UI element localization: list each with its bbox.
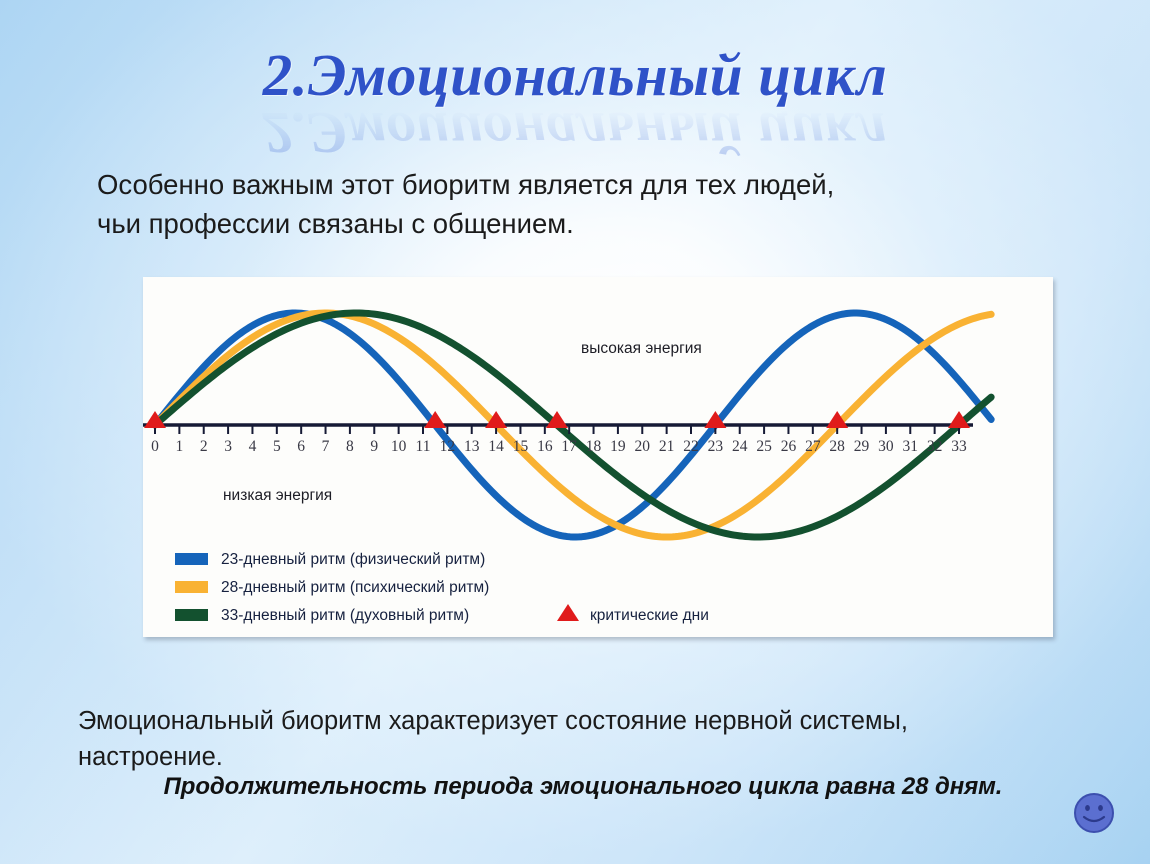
x-tick-label: 18 [586,438,602,455]
page-title: 2.Эмоциональный цикл [0,46,1150,105]
intro-paragraph: Особенно важным этот биоритм является дл… [97,165,1062,243]
x-tick-label: 14 [488,438,504,455]
outro-line-2: настроение. [78,739,1078,775]
x-tick-label: 22 [683,438,699,455]
high-energy-label: высокая энергия [581,340,702,357]
x-tick-label: 31 [903,438,919,455]
smiley-face-icon [1072,791,1116,835]
x-tick-label: 29 [854,438,870,455]
slide-root: 2.Эмоциональный цикл 2.Эмоциональный цик… [0,0,1150,864]
x-tick-label: 8 [346,438,354,455]
outro-paragraph: Эмоциональный биоритм характеризует сост… [78,703,1078,775]
intro-line-1: Особенно важным этот биоритм является дл… [97,165,1062,204]
x-tick-label: 32 [927,438,943,455]
slide-title-block: 2.Эмоциональный цикл 2.Эмоциональный цик… [0,46,1150,162]
legend-swatch [175,581,208,593]
x-tick-label: 6 [297,438,305,455]
page-title-reflection: 2.Эмоциональный цикл [0,106,1150,162]
x-tick-label: 16 [537,438,553,455]
x-tick-label: 9 [370,438,378,455]
x-tick-label: 11 [416,438,431,455]
legend-label: 28-дневный ритм (психический ритм) [221,579,489,596]
x-tick-label: 13 [464,438,480,455]
x-tick-label: 21 [659,438,675,455]
x-tick-label: 4 [249,438,257,455]
legend-label: 23-дневный ритм (физический ритм) [221,551,485,568]
x-tick-label: 24 [732,438,748,455]
x-tick-label: 2 [200,438,208,455]
x-tick-label: 20 [635,438,651,455]
x-tick-label: 0 [151,438,159,455]
x-tick-label: 15 [513,438,529,455]
x-tick-label: 33 [951,438,967,455]
x-tick-label: 1 [175,438,183,455]
legend-swatch [175,553,208,565]
x-tick-label: 10 [391,438,407,455]
legend-swatch [175,609,208,621]
x-tick-label: 17 [561,438,577,455]
x-tick-label: 3 [224,438,232,455]
outro-emphasis: Продолжительность периода эмоционального… [78,773,1088,801]
biorhythm-chart: 0123456789101112131415161718192021222324… [143,277,1053,637]
legend-label: 33-дневный ритм (духовный ритм) [221,607,469,624]
x-tick-label: 12 [440,438,456,455]
intro-line-2: чьи профессии связаны с общением. [97,204,1062,243]
x-tick-label: 26 [781,438,797,455]
x-tick-label: 30 [878,438,894,455]
outro-line-1: Эмоциональный биоритм характеризует сост… [78,703,1078,739]
biorhythm-chart-panel: 0123456789101112131415161718192021222324… [143,277,1053,637]
x-tick-label: 28 [829,438,845,455]
x-tick-label: 25 [756,438,772,455]
x-tick-label: 27 [805,438,821,455]
x-tick-label: 23 [708,438,724,455]
low-energy-label: низкая энергия [223,487,332,504]
legend-critical-day-label: критические дни [590,607,709,624]
x-tick-label: 19 [610,438,626,455]
x-tick-label: 5 [273,438,281,455]
x-tick-label: 7 [322,438,330,455]
